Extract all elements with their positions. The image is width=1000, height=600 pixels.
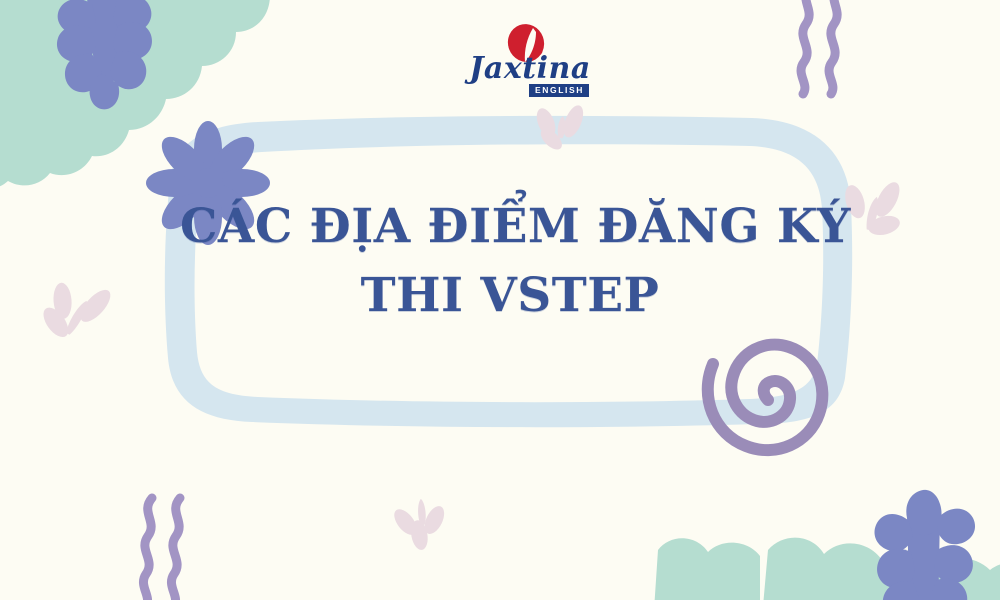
page-title-line-1: CÁC ĐỊA ĐIỂM ĐĂNG KÝ: [180, 196, 840, 257]
brand-wordmark: Jaxtina: [455, 54, 605, 84]
slide-canvas: Jaxtina ENGLISH CÁC ĐỊA ĐIỂM ĐĂNG KÝ THI…: [0, 0, 1000, 600]
squiggle-pair-bottom-left: [143, 498, 180, 600]
squiggle-pair-top-right: [801, 0, 838, 94]
sprig-top-center: [529, 99, 588, 156]
brand-tagline-badge: ENGLISH: [529, 84, 589, 97]
sprig-bottom-center: [389, 497, 451, 553]
jaxtina-logo: Jaxtina ENGLISH: [455, 24, 605, 104]
page-title: CÁC ĐỊA ĐIỂM ĐĂNG KÝ THI VSTEP: [180, 196, 840, 326]
spiral-bottom-right: [708, 345, 823, 451]
page-title-line-2: THI VSTEP: [180, 265, 840, 326]
sprig-left: [29, 263, 118, 355]
